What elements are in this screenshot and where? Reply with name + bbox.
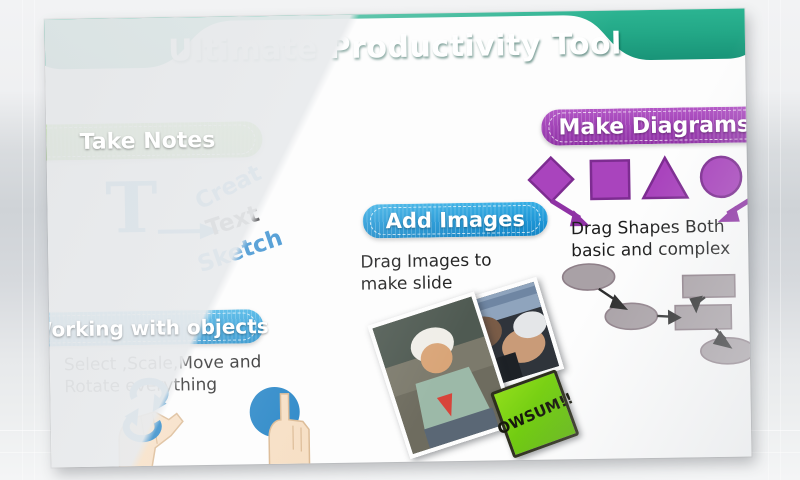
square-shape-icon <box>591 160 630 199</box>
badge-label: Add Images <box>385 207 525 233</box>
badge-label: Make Diagrams <box>558 112 750 140</box>
flow-node-rect <box>675 305 731 330</box>
background-line <box>768 0 769 480</box>
slide-canvas: Ultimate Productivity Tool Take Notes T … <box>0 0 800 480</box>
pinch-rotate-gesture-icon <box>110 390 241 467</box>
page-title: Ultimate Productivity Tool <box>45 9 752 102</box>
background-line <box>22 0 23 480</box>
flowchart-diagram <box>544 256 751 369</box>
badge-working-with-objects[interactable]: Working with objects <box>45 309 264 347</box>
badge-label: Working with objects <box>45 314 269 342</box>
text-tool-letter-icon: T <box>105 173 158 244</box>
tap-gesture-icon <box>236 385 337 467</box>
add-images-description: Drag Images to make slide <box>360 251 492 297</box>
triangle-shape-icon <box>643 157 688 198</box>
background-line <box>780 0 781 480</box>
badge-make-diagrams[interactable]: Make Diagrams <box>541 106 751 146</box>
flow-node-ellipse <box>562 264 614 291</box>
title-banner: Ultimate Productivity Tool <box>45 9 752 102</box>
background-line <box>34 0 35 480</box>
diamond-shape-icon <box>529 157 574 202</box>
badge-take-notes[interactable]: Take Notes <box>45 121 263 161</box>
flow-node-rect <box>683 275 735 298</box>
make-diagrams-description: Drag Shapes Both basic and complex <box>571 217 731 263</box>
badge-add-images[interactable]: Add Images <box>362 202 548 239</box>
circle-shape-icon <box>701 157 742 198</box>
slide-card: Ultimate Productivity Tool Take Notes T … <box>45 9 752 468</box>
sticky-note-label: OWSUM!! <box>494 389 575 438</box>
badge-label: Take Notes <box>79 127 215 154</box>
